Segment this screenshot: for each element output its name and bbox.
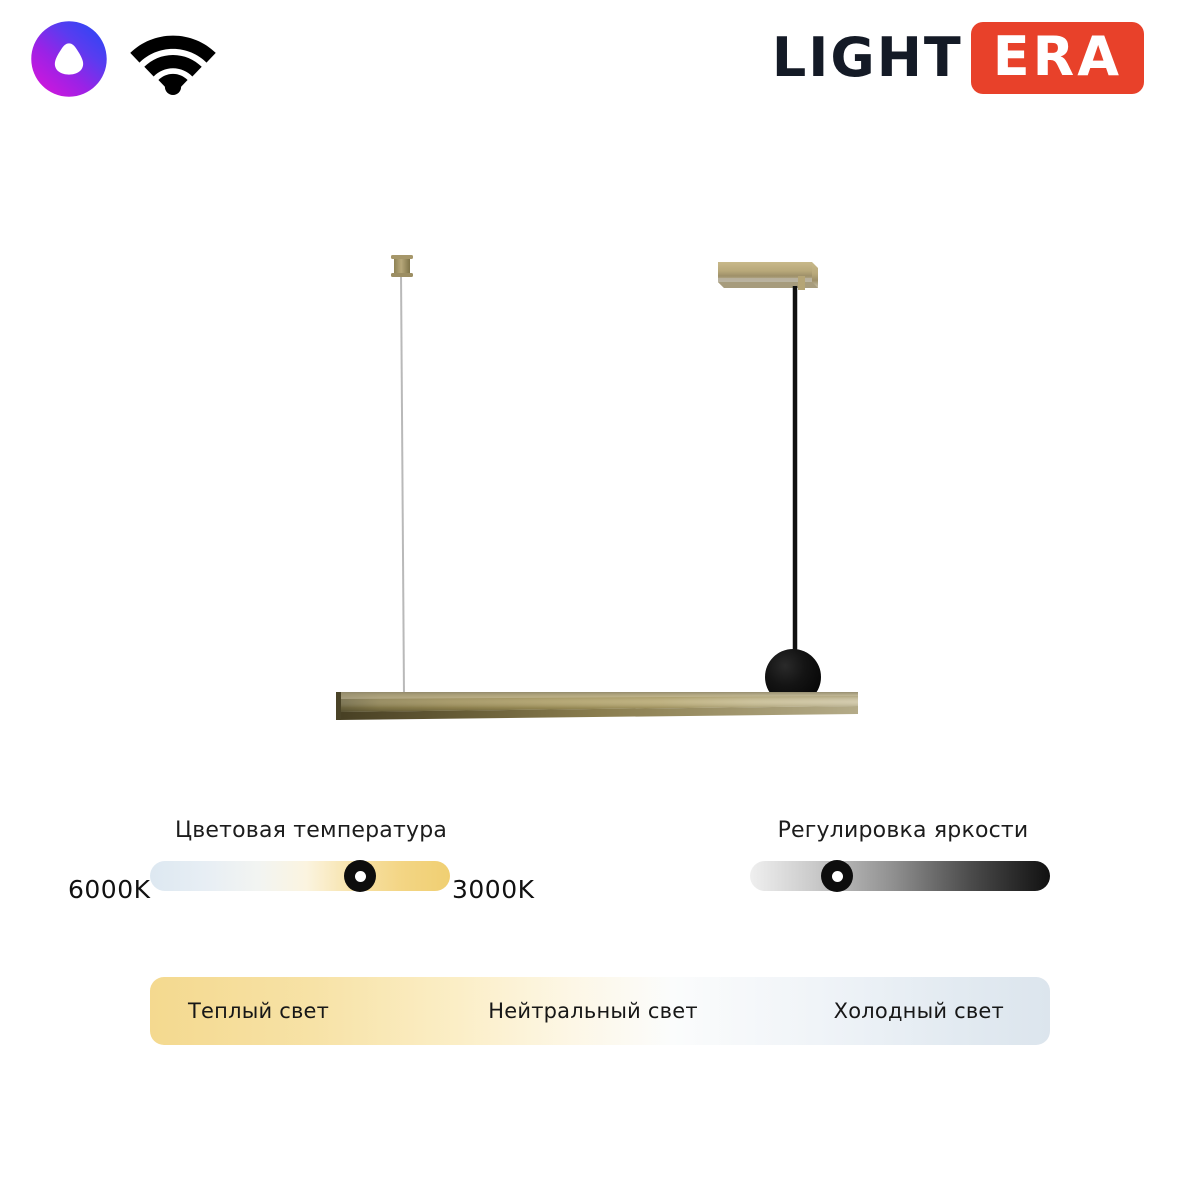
lamp-controls: Цветовая температура 6000K 3000K Регулир…	[0, 818, 1200, 948]
brightness-title: Регулировка яркости	[738, 818, 1068, 843]
color-temperature-slider-row: 6000K 3000K	[60, 861, 540, 891]
brightness-slider-thumb[interactable]	[821, 860, 853, 892]
color-temperature-min-label: 6000K	[68, 875, 151, 904]
color-temperature-title: Цветовая температура	[60, 818, 540, 843]
feature-badges	[28, 18, 218, 100]
lamp-body-bar	[336, 692, 858, 720]
color-temperature-slider-thumb[interactable]	[344, 860, 376, 892]
light-mode-bar: Теплый свет Нейтральный свет Холодный св…	[150, 977, 1050, 1045]
brightness-slider-track[interactable]	[750, 861, 1050, 891]
light-mode-warm[interactable]: Теплый свет	[150, 999, 458, 1023]
ceiling-anchor-left	[394, 257, 410, 275]
color-temperature-max-label: 3000K	[452, 875, 535, 904]
brand-logo-light-text: LIGHT	[772, 31, 971, 85]
light-mode-cold[interactable]: Холодный свет	[734, 999, 1050, 1023]
page-header: LIGHT ERA	[0, 0, 1200, 120]
product-image-linear-pendant-lamp	[0, 140, 1200, 780]
wifi-icon	[128, 23, 218, 95]
light-mode-neutral[interactable]: Нейтральный свет	[458, 999, 734, 1023]
ceiling-mount-plate-right	[718, 262, 818, 290]
brand-logo-era-text: ERA	[993, 30, 1122, 84]
suspension-wire-left	[401, 273, 404, 696]
brand-logo-era-badge: ERA	[971, 22, 1144, 94]
alice-assistant-logo	[28, 18, 110, 100]
lamp-illustration	[0, 140, 1200, 780]
brightness-slider-row	[738, 861, 1068, 891]
color-temperature-slider-track[interactable]	[150, 861, 450, 891]
color-temperature-control: Цветовая температура 6000K 3000K	[60, 818, 540, 891]
brand-logo: LIGHT ERA	[772, 20, 1144, 96]
brightness-control: Регулировка яркости	[738, 818, 1068, 891]
